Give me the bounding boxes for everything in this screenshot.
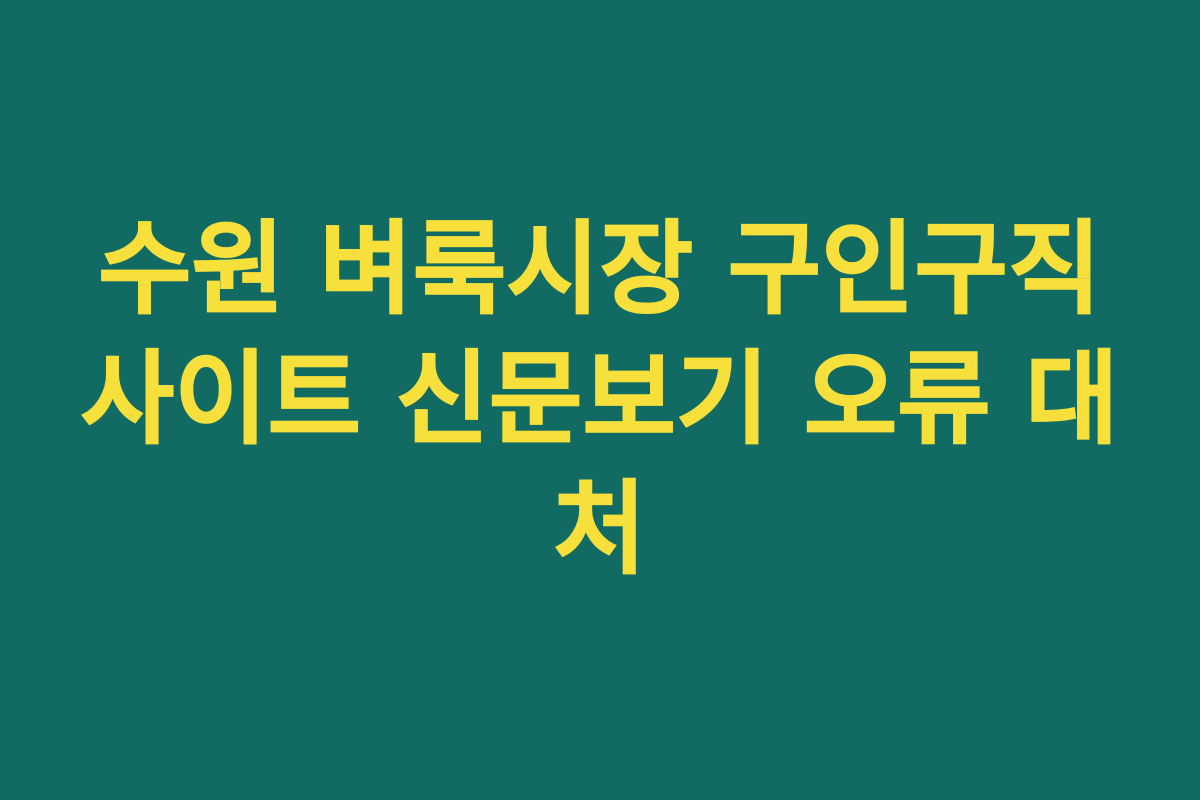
headline-block: 수원 벼룩시장 구인구직 사이트 신문보기 오류 대처 (80, 205, 1120, 595)
page-title: 수원 벼룩시장 구인구직 사이트 신문보기 오류 대처 (80, 205, 1120, 595)
banner-canvas: 수원 벼룩시장 구인구직 사이트 신문보기 오류 대처 (0, 0, 1200, 800)
